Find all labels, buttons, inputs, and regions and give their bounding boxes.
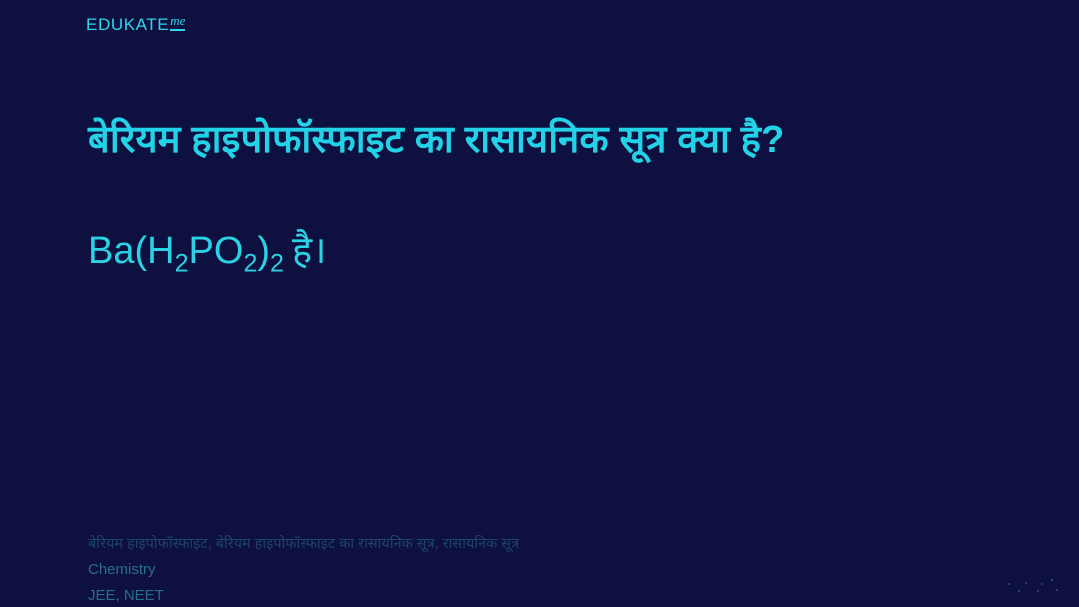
decorative-dot-cluster <box>1004 577 1070 599</box>
footer-tags: बेरियम हाइपोफॉस्फाइट, बेरियम हाइपोफॉस्फा… <box>88 531 519 557</box>
formula-subscript-3: 2 <box>270 249 284 277</box>
dot <box>1051 579 1053 581</box>
slide-canvas: EDUKATE me बेरियम हाइपोफॉस्फाइट का रासाय… <box>0 0 1079 607</box>
formula-middle: PO <box>189 230 244 272</box>
answer-suffix-text: है। <box>292 230 327 272</box>
dot <box>1056 589 1058 591</box>
formula-close-paren: ) <box>257 230 270 272</box>
formula-subscript-2: 2 <box>243 249 257 277</box>
footer-metadata: बेरियम हाइपोफॉस्फाइट, बेरियम हाइपोफॉस्फा… <box>88 531 519 607</box>
footer-subject: Chemistry <box>88 557 519 583</box>
dot <box>1018 590 1020 592</box>
answer-formula: Ba(H2PO2)2है। <box>88 228 327 276</box>
brand-name-text: EDUKATE <box>86 16 169 33</box>
dot <box>1008 583 1010 585</box>
dot <box>1037 590 1039 592</box>
dot <box>1025 582 1027 584</box>
formula-prefix: Ba(H <box>88 230 175 272</box>
footer-exams: JEE, NEET <box>88 583 519 607</box>
formula-subscript-1: 2 <box>175 249 189 277</box>
brand-suffix-text: me <box>170 14 185 31</box>
dot <box>1041 583 1043 585</box>
edukate-logo[interactable]: EDUKATE me <box>86 16 185 33</box>
question-title: बेरियम हाइपोफॉस्फाइट का रासायनिक सूत्र क… <box>88 116 1018 165</box>
